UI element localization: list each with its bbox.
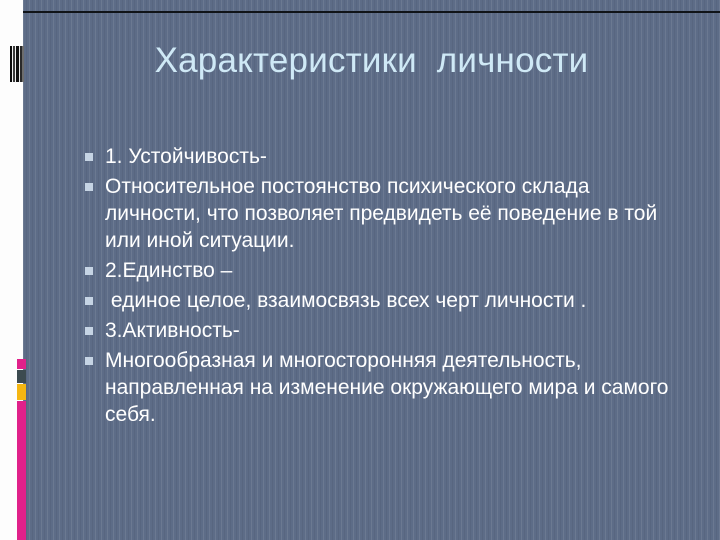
- square-bullet-icon: [85, 327, 93, 335]
- slide-body-list: 1. Устойчивость- Относительное постоянст…: [85, 143, 685, 431]
- list-item-text: 2.Единство –: [105, 257, 685, 284]
- list-item: 1. Устойчивость-: [85, 143, 685, 170]
- slide: Характеристики личности 1. Устойчивость-…: [0, 0, 720, 540]
- magenta-rail-ornament: [17, 401, 26, 540]
- amber-chip-ornament: [17, 384, 26, 400]
- list-item-text: 1. Устойчивость-: [105, 143, 685, 170]
- top-divider-rule: [23, 11, 720, 13]
- slide-title: Характеристики личности: [23, 41, 720, 81]
- list-item-text: Многообразная и многосторонняя деятельно…: [105, 347, 685, 428]
- list-item-text: единое целое, взаимосвязь всех черт личн…: [105, 287, 685, 314]
- square-bullet-icon: [85, 153, 93, 161]
- teal-chip-ornament: [17, 370, 26, 383]
- square-bullet-icon: [85, 183, 93, 191]
- square-bullet-icon: [85, 357, 93, 365]
- list-item: 2.Единство –: [85, 257, 685, 284]
- square-bullet-icon: [85, 267, 93, 275]
- list-item-text: 3.Активность-: [105, 317, 685, 344]
- magenta-chip-ornament: [17, 359, 26, 369]
- list-item-text: Относительное постоянство психического с…: [105, 173, 685, 254]
- list-item: 3.Активность-: [85, 317, 685, 344]
- list-item: Относительное постоянство психического с…: [85, 173, 685, 254]
- list-item: единое целое, взаимосвязь всех черт личн…: [85, 287, 685, 314]
- barcode-stripe-icon: [10, 46, 24, 82]
- square-bullet-icon: [85, 297, 93, 305]
- list-item: Многообразная и многосторонняя деятельно…: [85, 347, 685, 428]
